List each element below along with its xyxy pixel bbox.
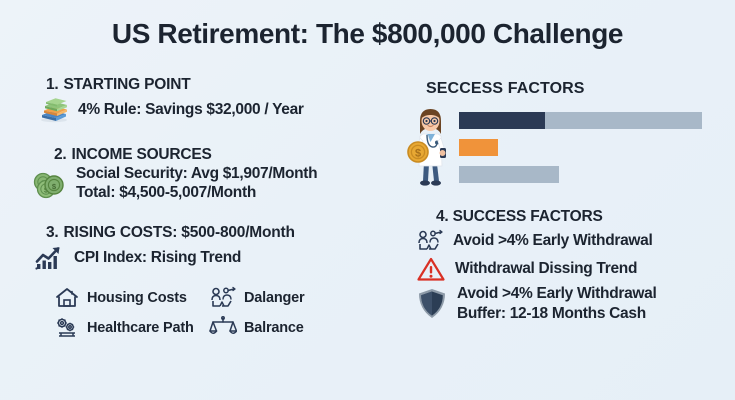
success-item-buffer: Avoid >4% Early Withdrawal Buffer: 12-18… [416,285,724,323]
bar-row-3 [459,166,704,183]
rising-costs-row: CPI Index: Rising Trend [34,244,400,272]
bar-chart [459,112,704,193]
bar-1-remainder [545,112,702,129]
section-3-title: RISING COSTS: $500-800/Month [64,224,295,241]
income-line-2: Total: $4,500-5,007/Month [76,184,317,202]
people-network-icon [416,229,444,253]
buffer-text-lines: Avoid >4% Early Withdrawal Buffer: 12-18… [457,285,657,323]
factor-healthcare-path: Healthcare Path [54,316,209,340]
section-4-number: 4. [436,208,449,225]
bar-2-filled [459,139,498,156]
factor-label-housing: Housing Costs [87,290,187,306]
bar-3-filled [459,166,559,183]
factor-grid: Housing Costs [54,286,400,340]
coins-stack-icon: $ $ $ [32,167,68,201]
section-2-title: INCOME SOURCES [72,146,212,163]
success-item-avoid-withdrawal: Avoid >4% Early Withdrawal [416,229,724,253]
left-column: 1.STARTING POINT [28,76,400,340]
factor-balrance: Balrance [209,316,359,340]
infographic-canvas: US Retirement: The $800,000 Challenge 1.… [0,0,735,400]
shield-icon [416,287,448,321]
success-item-1-text: Avoid >4% Early Withdrawal [453,232,653,250]
income-sources-row: $ $ $ Social Security: Avg $1,907/Month … [32,165,400,202]
income-sources-lines: Social Security: Avg $1,907/Month Total:… [76,165,317,202]
section-1-title: STARTING POINT [64,76,191,93]
people-network-icon [209,286,237,310]
starting-point-row: 4% Rule: Savings $32,000 / Year [38,96,400,124]
gears-icon [54,316,80,340]
svg-text:$: $ [415,148,421,160]
success-item-3-text-2: Buffer: 12-18 Months Cash [457,305,657,323]
section-3-number: 3. [46,224,59,241]
section-3-heading: 3.RISING COSTS: $500-800/Month [46,224,400,242]
section-2-heading: 2.INCOME SOURCES [54,146,400,164]
factor-label-dalanger: Dalanger [244,290,304,306]
success-item-dissing-trend: Withdrawal Dissing Trend [416,256,724,282]
section-income-sources: 2.INCOME SOURCES $ $ $ [28,146,400,202]
success-factors-panel-title: SECCESS FACTORS [426,80,724,98]
bar-1-filled [459,112,545,129]
books-stack-icon [38,96,70,124]
factor-housing-costs: Housing Costs [54,286,209,310]
house-icon [54,286,80,310]
cpi-index-text: CPI Index: Rising Trend [74,249,241,267]
section-4-title: SUCCESS FACTORS [453,208,603,225]
success-factors-chart: $ [404,112,724,190]
factor-label-balrance: Balrance [244,320,304,336]
section-1-number: 1. [46,76,59,93]
section-starting-point: 1.STARTING POINT [28,76,400,124]
section-rising-costs: 3.RISING COSTS: $500-800/Month CPI Index… [28,224,400,272]
factor-label-healthcare: Healthcare Path [87,320,194,336]
rising-chart-icon [34,244,66,272]
warning-triangle-icon [416,256,446,282]
bar-row-1 [459,112,704,129]
section-2-number: 2. [54,146,67,163]
section-4-heading: 4. SUCCESS FACTORS [436,208,724,226]
right-column: SECCESS FACTORS [404,80,724,323]
success-item-3-text-1: Avoid >4% Early Withdrawal [457,285,657,303]
income-line-1: Social Security: Avg $1,907/Month [76,165,317,183]
success-item-2-text: Withdrawal Dissing Trend [455,260,637,278]
starting-point-text: 4% Rule: Savings $32,000 / Year [78,101,304,119]
bar-row-2 [459,139,704,156]
balance-scales-icon [209,316,237,340]
section-1-heading: 1.STARTING POINT [46,76,400,94]
factor-dalanger: Dalanger [209,286,359,310]
doctor-with-coin-illustration: $ [404,106,456,195]
page-title: US Retirement: The $800,000 Challenge [0,18,735,50]
